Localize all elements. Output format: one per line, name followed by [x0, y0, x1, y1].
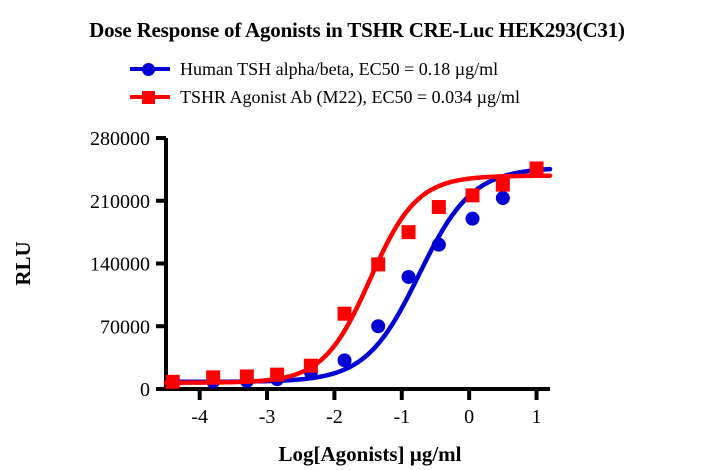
chart-legend: Human TSH alpha/beta, EC50 = 0.18 µg/ml … [128, 55, 688, 111]
chart-figure: Dose Response of Agonists in TSHR CRE-Lu… [0, 0, 714, 470]
legend-label-human-tsh: Human TSH alpha/beta, EC50 = 0.18 µg/ml [172, 59, 498, 80]
y-tick-label: 70000 [100, 316, 150, 338]
x-tick-label: 0 [464, 406, 474, 428]
y-tick-label: 0 [140, 379, 150, 401]
fit-curve-series-1 [166, 176, 550, 383]
legend-key-square-icon [128, 87, 172, 107]
y-tick-label: 210000 [90, 191, 150, 213]
data-point-marker [270, 368, 284, 382]
x-tick-label: 1 [532, 406, 542, 428]
legend-item-human-tsh: Human TSH alpha/beta, EC50 = 0.18 µg/ml [128, 55, 688, 83]
x-axis-label: Log[Agonists] µg/ml [278, 442, 461, 466]
plot-canvas: 070000140000210000280000-4-3-2-101Log[Ag… [0, 112, 714, 470]
data-point-marker [206, 370, 220, 384]
data-point-marker [304, 359, 318, 373]
legend-key-circle-icon [128, 59, 172, 79]
y-tick-label: 280000 [90, 128, 150, 150]
fit-curve-series-0 [166, 169, 550, 382]
data-point-marker [402, 225, 416, 239]
data-point-marker [402, 270, 416, 284]
legend-marker-square-icon [142, 91, 155, 104]
data-point-marker [432, 238, 446, 252]
page-title: Dose Response of Agonists in TSHR CRE-Lu… [0, 18, 714, 43]
data-point-marker [432, 200, 446, 214]
legend-item-m22: TSHR Agonist Ab (M22), EC50 = 0.034 µg/m… [128, 83, 688, 111]
legend-marker-circle-icon [142, 63, 155, 76]
data-point-marker [371, 319, 385, 333]
data-point-marker [530, 161, 544, 175]
data-point-marker [338, 307, 352, 321]
y-axis-label: RLU [11, 241, 35, 285]
data-point-marker [466, 188, 480, 202]
data-point-marker [338, 353, 352, 367]
legend-label-m22: TSHR Agonist Ab (M22), EC50 = 0.034 µg/m… [172, 87, 520, 108]
y-tick-label: 140000 [90, 254, 150, 276]
data-point-marker [466, 212, 480, 226]
data-point-marker [371, 257, 385, 271]
x-tick-label: -2 [326, 406, 343, 428]
data-point-marker [496, 191, 510, 205]
x-tick-label: -3 [259, 406, 276, 428]
data-point-marker [240, 369, 254, 383]
x-tick-label: -1 [393, 406, 410, 428]
data-point-marker [166, 375, 180, 389]
data-point-marker [496, 178, 510, 192]
x-tick-label: -4 [191, 406, 208, 428]
